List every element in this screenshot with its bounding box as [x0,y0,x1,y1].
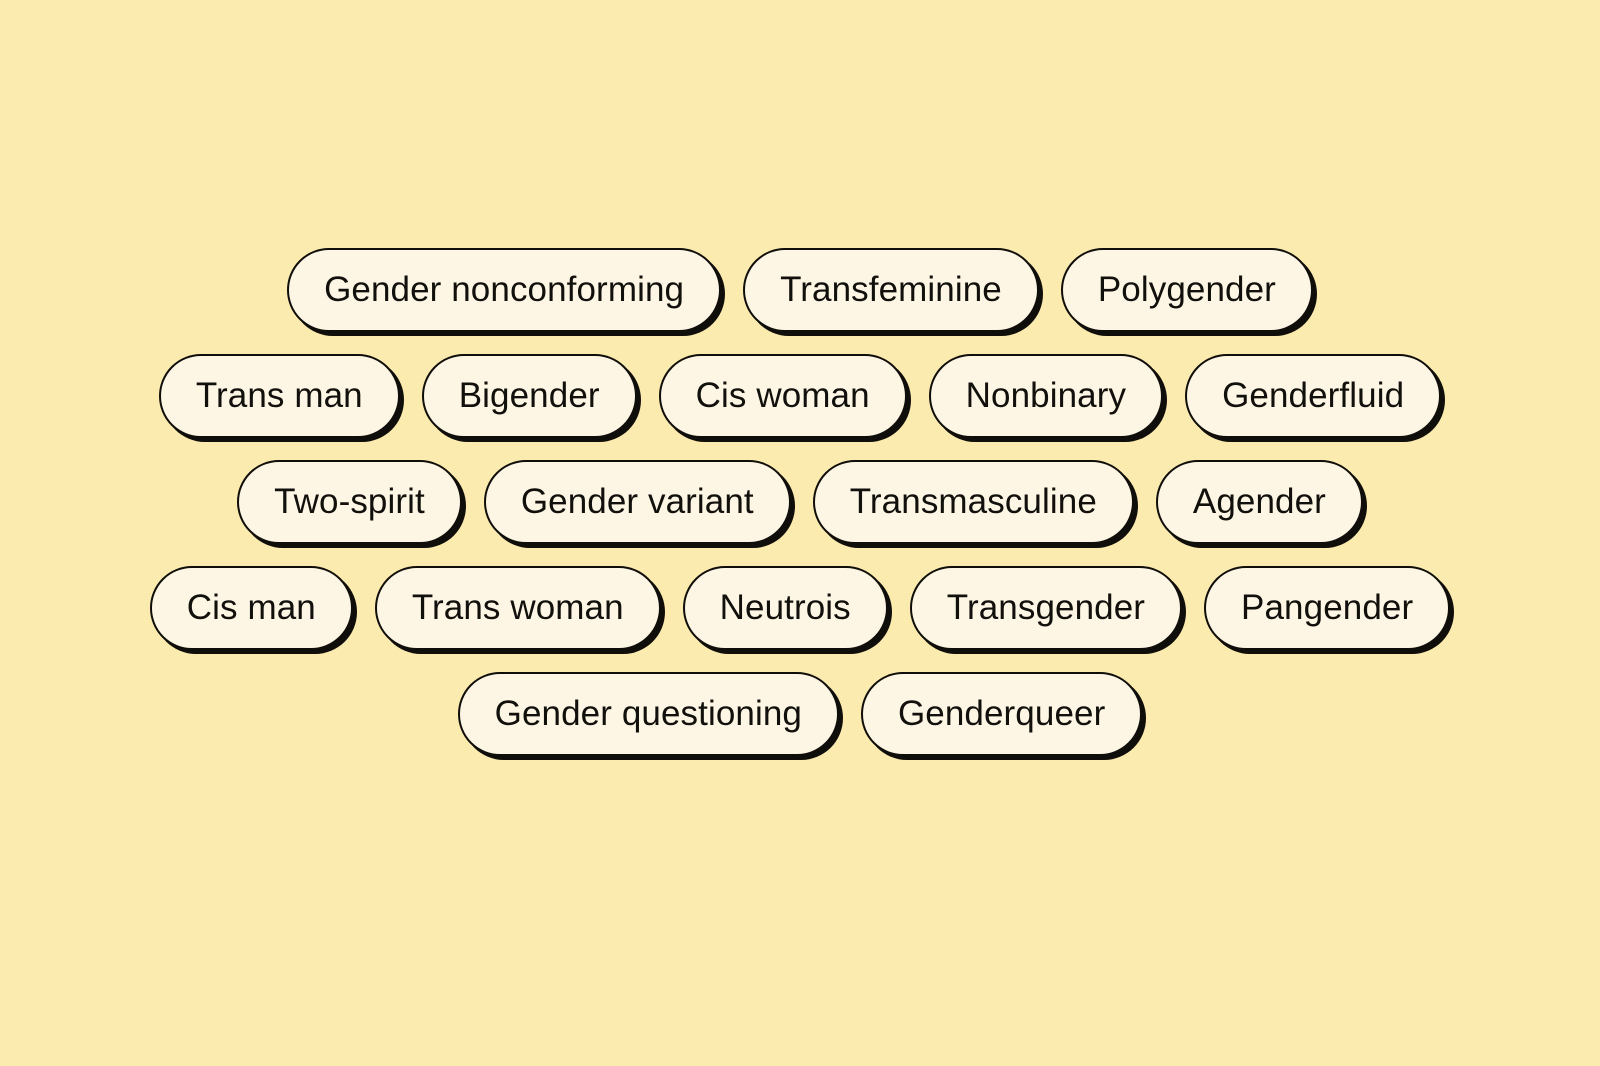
tag-pill-trans-man[interactable]: Trans man [159,354,400,438]
tag-label: Agender [1193,484,1326,519]
tag-pill-cis-woman[interactable]: Cis woman [659,354,907,438]
tag-cloud: Gender nonconforming Transfeminine Polyg… [0,0,1600,1066]
tag-row: Gender questioning Genderqueer [0,672,1600,756]
tag-pill-gender-nonconforming[interactable]: Gender nonconforming [287,248,721,332]
tag-row: Gender nonconforming Transfeminine Polyg… [0,248,1600,332]
tag-pill-nonbinary[interactable]: Nonbinary [929,354,1163,438]
tag-label: Cis woman [696,378,870,413]
tag-label: Genderfluid [1222,378,1404,413]
tag-pill-gender-variant[interactable]: Gender variant [484,460,791,544]
tag-pill-two-spirit[interactable]: Two-spirit [237,460,462,544]
tag-pill-bigender[interactable]: Bigender [422,354,637,438]
tag-pill-cis-man[interactable]: Cis man [150,566,353,650]
tag-label: Neutrois [720,590,851,625]
tag-label: Trans man [196,378,363,413]
tag-pill-transgender[interactable]: Transgender [910,566,1182,650]
tag-label: Genderqueer [898,696,1105,731]
tag-label: Transmasculine [850,484,1097,519]
tag-label: Gender nonconforming [324,272,684,307]
tag-pill-pangender[interactable]: Pangender [1204,566,1450,650]
tag-pill-transfeminine[interactable]: Transfeminine [743,248,1039,332]
tag-pill-transmasculine[interactable]: Transmasculine [813,460,1134,544]
tag-pill-neutrois[interactable]: Neutrois [683,566,888,650]
tag-label: Transgender [947,590,1145,625]
tag-pill-genderqueer[interactable]: Genderqueer [861,672,1142,756]
tag-label: Nonbinary [966,378,1126,413]
tag-pill-agender[interactable]: Agender [1156,460,1363,544]
tag-pill-trans-woman[interactable]: Trans woman [375,566,661,650]
tag-label: Two-spirit [274,484,425,519]
tag-label: Pangender [1241,590,1413,625]
tag-label: Transfeminine [780,272,1002,307]
tag-label: Cis man [187,590,316,625]
tag-row: Two-spirit Gender variant Transmasculine… [0,460,1600,544]
tag-label: Trans woman [412,590,624,625]
tag-label: Bigender [459,378,600,413]
tag-label: Polygender [1098,272,1276,307]
tag-pill-polygender[interactable]: Polygender [1061,248,1313,332]
tag-row: Trans man Bigender Cis woman Nonbinary G… [0,354,1600,438]
tag-row: Cis man Trans woman Neutrois Transgender… [0,566,1600,650]
tag-pill-genderfluid[interactable]: Genderfluid [1185,354,1441,438]
tag-label: Gender variant [521,484,754,519]
tag-pill-gender-questioning[interactable]: Gender questioning [458,672,839,756]
tag-label: Gender questioning [495,696,802,731]
